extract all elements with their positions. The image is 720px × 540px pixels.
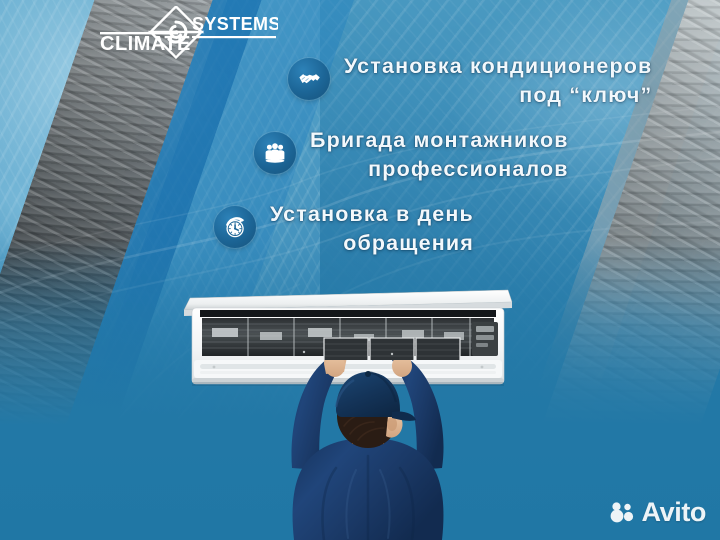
handshake-icon xyxy=(288,58,330,100)
avito-watermark: Avito xyxy=(610,499,707,526)
ac-filter-panels xyxy=(324,338,460,362)
logo-text-climate: CLIMATE xyxy=(100,33,191,55)
feature-professional-team: Бригада монтажников профессионалов xyxy=(254,126,569,183)
technician-figure xyxy=(232,360,502,540)
feature-text: Установка в день обращения xyxy=(270,200,474,257)
ac-control-module xyxy=(472,322,498,356)
brand-logo[interactable]: CLIMATE SYSTEMS xyxy=(96,6,278,64)
ac-intake-slot xyxy=(200,310,496,317)
feature-turnkey-installation: Установка кондиционеров под “ключ” xyxy=(288,52,652,109)
fast-clock-icon xyxy=(214,206,256,248)
avito-dots-icon xyxy=(610,501,636,525)
feature-text: Бригада монтажников профессионалов xyxy=(310,126,569,183)
logo-text-systems: SYSTEMS xyxy=(192,14,278,34)
avito-label: Avito xyxy=(642,499,707,526)
people-group-icon xyxy=(254,132,296,174)
feature-text: Установка кондиционеров под “ключ” xyxy=(344,52,652,109)
feature-same-day-installation: Установка в день обращения xyxy=(214,200,474,257)
advertisement-banner: CLIMATE SYSTEMS Установка кондиционеров … xyxy=(0,0,720,540)
technician-cap xyxy=(336,372,400,417)
